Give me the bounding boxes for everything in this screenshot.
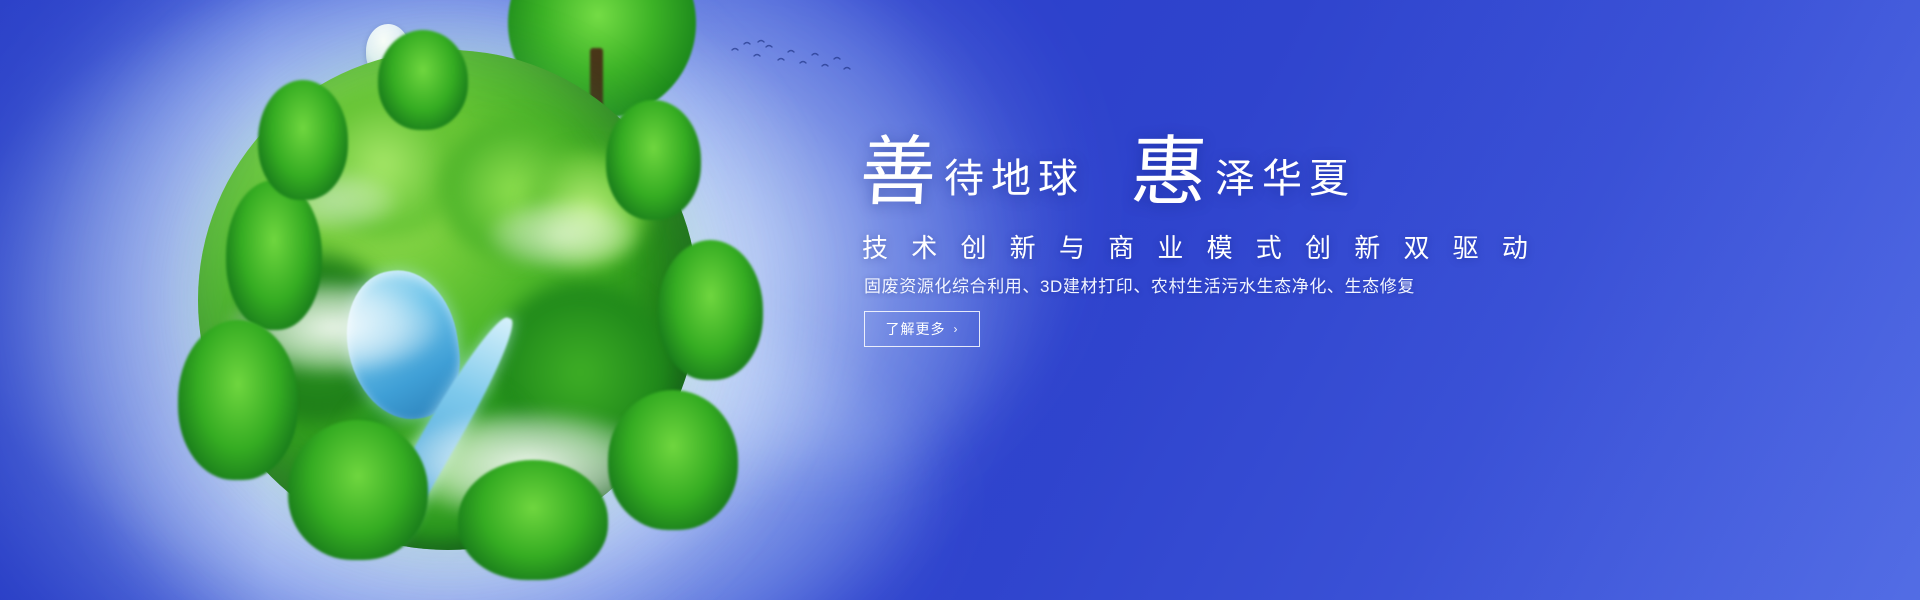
subtitle: 技 术 创 新 与 商 业 模 式 创 新 双 驱 动: [862, 228, 1536, 265]
headline-small-chars-one: 待地球: [936, 159, 1085, 209]
headline-phrase-one: 善 待地球: [860, 138, 1085, 209]
headline-large-char-one: 善: [858, 138, 938, 209]
headline-small-chars-two: 泽华夏: [1207, 159, 1356, 209]
rim-tree: [178, 320, 298, 480]
rim-tree: [608, 390, 738, 530]
learn-more-button[interactable]: 了解更多 ›: [864, 311, 980, 347]
learn-more-label: 了解更多: [886, 319, 946, 339]
headline-phrase-two: 惠 泽华夏: [1131, 138, 1356, 209]
rim-tree: [378, 30, 468, 130]
rim-tree: [226, 180, 322, 330]
banner-content: 善 待地球 惠 泽华夏 技 术 创 新 与 商 业 模 式 创 新 双 驱 动 …: [860, 0, 1560, 600]
rim-tree: [458, 460, 608, 580]
rim-tree: [288, 420, 428, 560]
headline: 善 待地球 惠 泽华夏: [860, 138, 1356, 209]
chevron-right-icon: ›: [954, 322, 959, 336]
bird-flock-icon: [728, 38, 858, 78]
globe-cloud: [488, 200, 638, 270]
hero-banner: 善 待地球 惠 泽华夏 技 术 创 新 与 商 业 模 式 创 新 双 驱 动 …: [0, 0, 1920, 600]
rim-tree: [658, 240, 763, 380]
rim-tree: [606, 100, 701, 220]
description: 固废资源化综合利用、3D建材打印、农村生活污水生态净化、生态修复: [864, 272, 1415, 297]
headline-large-char-two: 惠: [1129, 138, 1209, 209]
tiny-planet-globe: [138, 0, 758, 600]
rim-tree: [258, 80, 348, 200]
